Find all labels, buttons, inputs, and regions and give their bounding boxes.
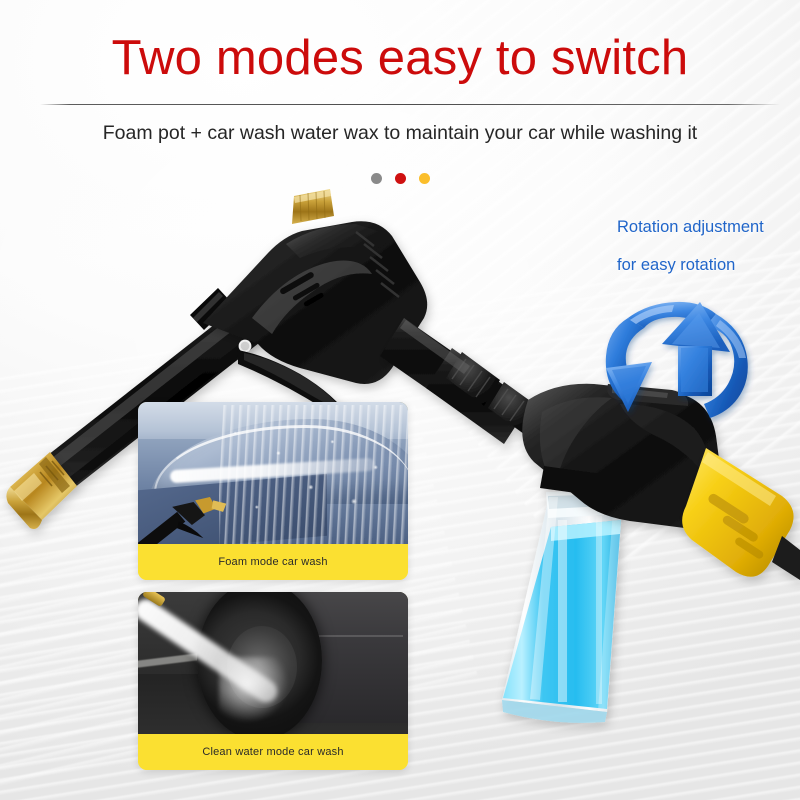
card-foam-mode[interactable]: Foam mode car wash	[138, 402, 408, 580]
page-title: Two modes easy to switch	[0, 34, 800, 83]
card-clean-caption: Clean water mode car wash	[138, 734, 408, 770]
photo-foam-mode	[138, 402, 408, 544]
dot-yellow-icon	[419, 173, 430, 184]
decorative-dots	[0, 173, 800, 184]
dot-red-icon	[395, 173, 406, 184]
card-foam-caption: Foam mode car wash	[138, 544, 408, 580]
header-divider	[40, 104, 780, 105]
page-subtitle: Foam pot + car wash water wax to maintai…	[0, 122, 800, 145]
dot-gray-icon	[371, 173, 382, 184]
callout-rotation-line1: Rotation adjustment	[617, 218, 764, 237]
card-clean-water-mode[interactable]: Clean water mode car wash	[138, 592, 408, 770]
photo-foam-spray-gun	[138, 479, 241, 544]
callout-rotation-line2: for easy rotation	[617, 256, 735, 275]
photo-clean-water-mode	[138, 592, 408, 734]
product-infographic: Two modes easy to switch Foam pot + car …	[0, 0, 800, 800]
